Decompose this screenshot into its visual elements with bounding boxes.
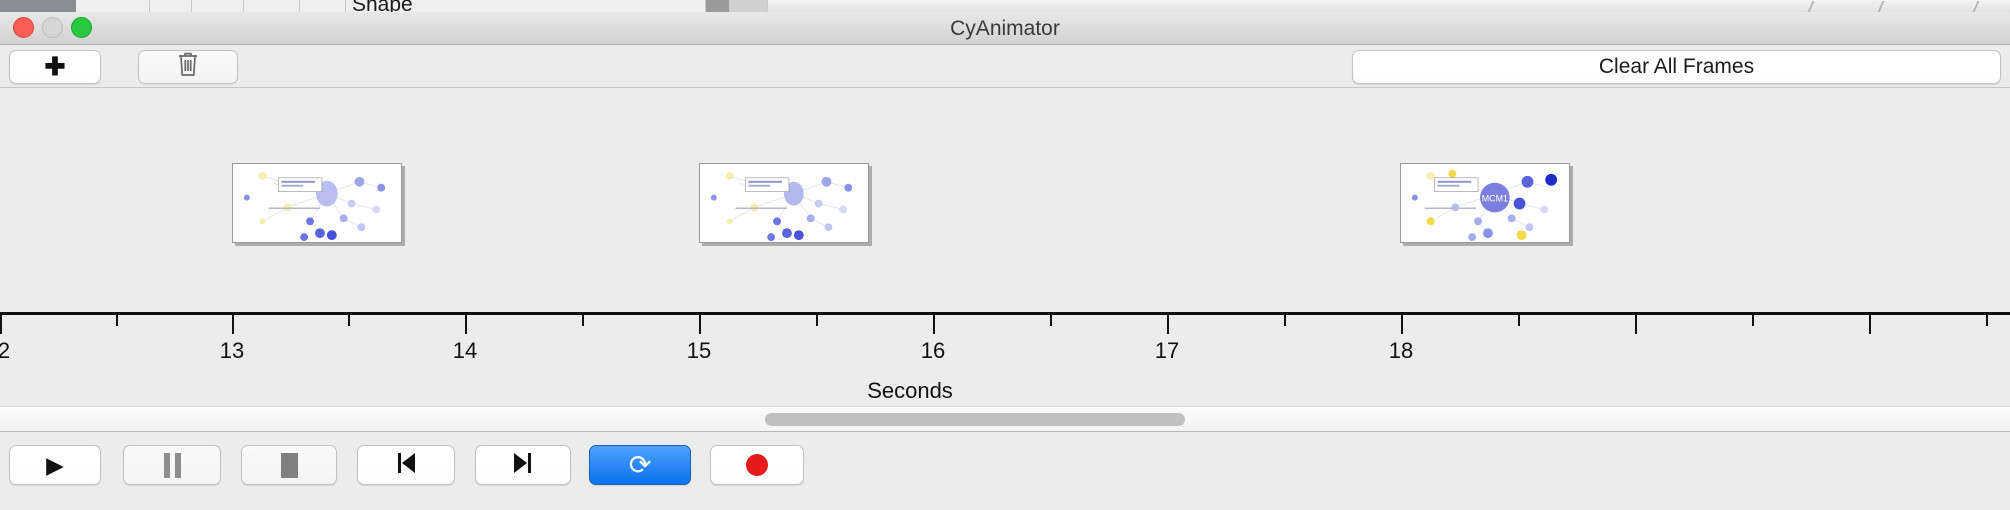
clear-all-frames-label: Clear All Frames <box>1599 55 1754 79</box>
cyanimator-window: Shape CyAnimator ✚ <box>0 0 2010 510</box>
record-icon <box>746 454 768 476</box>
timeline-axis-line <box>0 312 2010 315</box>
scrollbar-thumb[interactable] <box>765 413 1185 426</box>
background-window-label: Shape <box>352 0 413 12</box>
network-thumbnail-graphic <box>700 164 868 243</box>
axis-tick-minor <box>1752 315 1754 326</box>
background-window-cell <box>76 0 150 12</box>
add-frame-button[interactable]: ✚ <box>9 50 101 84</box>
window-title: CyAnimator <box>0 12 2010 45</box>
hub-node-label: MCM1 <box>1482 194 1508 204</box>
background-window-cell <box>150 0 192 12</box>
axis-tick-major <box>465 315 467 334</box>
axis-tick-label: 2 <box>0 338 10 364</box>
background-window-cell <box>192 0 244 12</box>
axis-tick-minor <box>582 315 584 326</box>
axis-tick-label: 15 <box>687 338 711 364</box>
clear-all-frames-button[interactable]: Clear All Frames <box>1352 50 2001 84</box>
background-window-cell <box>300 0 346 12</box>
timeline-panel[interactable]: MCM1 2 13 14 <box>0 88 2010 406</box>
background-window-dark-cell <box>0 0 76 12</box>
trash-icon <box>177 51 199 83</box>
axis-tick-minor <box>348 315 350 326</box>
network-thumbnail-graphic: MCM1 <box>1401 164 1569 243</box>
play-button[interactable]: ▶ <box>9 445 101 485</box>
axis-tick-minor <box>1518 315 1520 326</box>
background-window-tick <box>1973 1 1988 12</box>
axis-caption: Seconds <box>0 378 1820 404</box>
background-window-cell <box>730 0 768 12</box>
axis-tick-label: 18 <box>1389 338 1413 364</box>
axis-tick-minor <box>1050 315 1052 326</box>
skip-forward-button[interactable] <box>475 445 571 485</box>
frame-thumbnail[interactable] <box>232 163 402 243</box>
background-window-strip: Shape <box>0 0 2010 12</box>
axis-tick-minor <box>116 315 118 326</box>
title-bar: CyAnimator <box>0 12 2010 45</box>
axis-tick-major <box>1167 315 1169 334</box>
axis-tick-major <box>232 315 234 334</box>
play-icon: ▶ <box>46 454 64 477</box>
loop-icon: ⟳ <box>629 452 652 479</box>
skip-forward-icon <box>511 450 535 481</box>
background-window-tick <box>1878 1 1893 12</box>
frame-thumbnail[interactable] <box>699 163 869 243</box>
background-window-tick <box>1808 1 1823 12</box>
axis-tick-major <box>0 315 2 334</box>
frame-thumbnail[interactable]: MCM1 <box>1400 163 1570 243</box>
record-button[interactable] <box>710 445 804 485</box>
skip-back-icon <box>394 450 418 481</box>
axis-tick-label: 13 <box>220 338 244 364</box>
pause-icon <box>164 453 181 478</box>
axis-tick-minor <box>1986 315 1988 326</box>
loop-button[interactable]: ⟳ <box>589 445 691 485</box>
frame-toolbar: ✚ Clear All Frames <box>0 45 2010 88</box>
axis-tick-label: 17 <box>1155 338 1179 364</box>
plus-icon: ✚ <box>45 55 66 80</box>
background-window-cell <box>244 0 300 12</box>
axis-tick-minor <box>816 315 818 326</box>
axis-tick-label: 14 <box>453 338 477 364</box>
axis-tick-major <box>699 315 701 334</box>
axis-tick-major <box>933 315 935 334</box>
stop-icon <box>281 453 298 478</box>
axis-tick-major <box>1869 315 1871 334</box>
axis-tick-major <box>1401 315 1403 334</box>
stop-button[interactable] <box>241 445 337 485</box>
delete-frame-button[interactable] <box>138 50 238 84</box>
skip-back-button[interactable] <box>357 445 455 485</box>
pause-button[interactable] <box>123 445 221 485</box>
background-window-cell <box>706 0 730 12</box>
timeline-scrollbar[interactable] <box>0 406 2010 432</box>
axis-tick-label: 16 <box>921 338 945 364</box>
playback-controls: ▶ ⟳ <box>0 433 2010 510</box>
axis-tick-major <box>1635 315 1637 334</box>
network-thumbnail-graphic <box>233 164 401 243</box>
axis-tick-minor <box>1284 315 1286 326</box>
